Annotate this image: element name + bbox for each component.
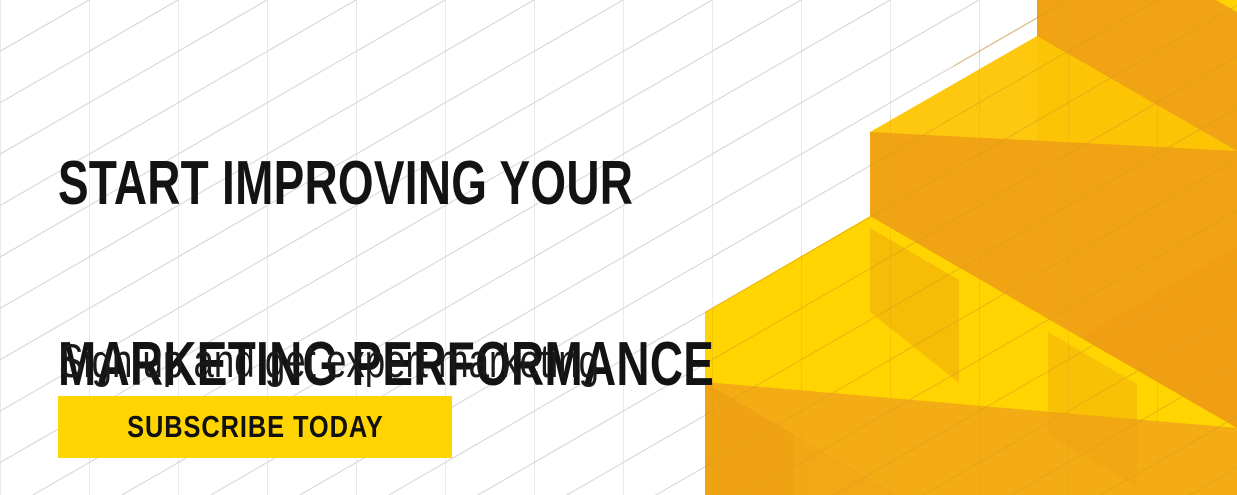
subcopy-line-1: Sign up and get expert marketing (59, 334, 599, 389)
headline-line-1: START IMPROVING YOUR (58, 154, 714, 214)
banner-content: START IMPROVING YOUR MARKETING PERFORMAN… (0, 0, 1237, 495)
subscribe-button-label: SUBSCRIBE TODAY (127, 409, 383, 445)
subscribe-banner: START IMPROVING YOUR MARKETING PERFORMAN… (0, 0, 1237, 495)
subscribe-button[interactable]: SUBSCRIBE TODAY (58, 396, 452, 458)
